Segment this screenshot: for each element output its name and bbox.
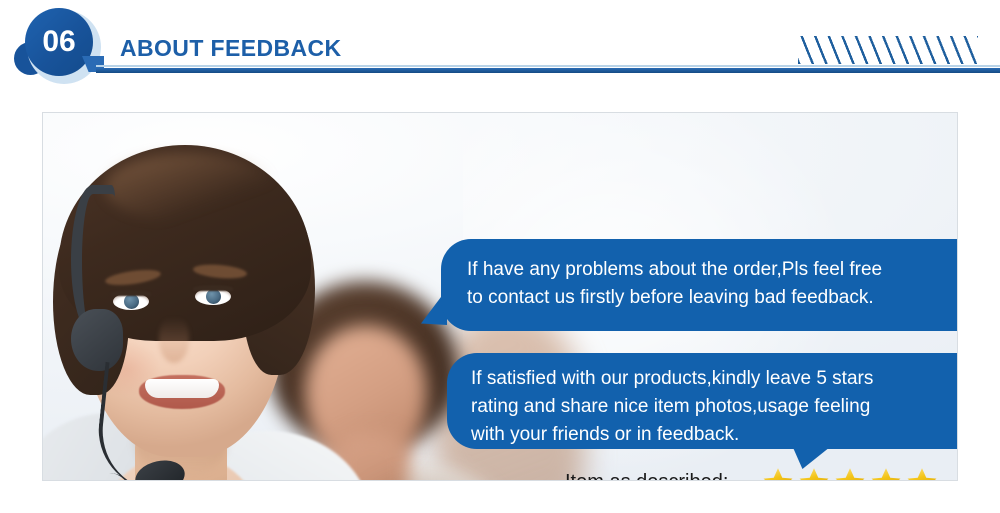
speech-bubble-1: If have any problems about the order,Pls… (441, 239, 958, 331)
speech-bubble-2-text: If satisfied with our products,kindly le… (471, 365, 958, 449)
header-rule (96, 68, 1000, 73)
speech-bubble-1-text: If have any problems about the order,Pls… (467, 256, 958, 312)
speech-bubble-2: If satisfied with our products,kindly le… (447, 353, 958, 449)
agent-nose (159, 317, 189, 363)
agent-iris-right (206, 289, 221, 304)
agent-eyelash-left (111, 290, 151, 296)
rating-list: Item as described:Communication:Shipping… (565, 463, 958, 481)
star-icon (905, 466, 939, 482)
star-icon (797, 466, 831, 482)
page-title: ABOUT FEEDBACK (120, 35, 342, 62)
section-number-badge: 06 (25, 8, 93, 76)
rating-row: Item as described: (565, 463, 958, 481)
star-icon (761, 466, 795, 482)
rating-label: Item as described: (565, 471, 761, 482)
star-icon (869, 466, 903, 482)
agent-eyelash-right (193, 285, 233, 291)
headset-earpiece (71, 309, 123, 371)
star-icon (833, 466, 867, 482)
agent-iris-left (124, 294, 139, 309)
feedback-photo-panel: If have any problems about the order,Pls… (42, 112, 958, 481)
header-rule-thin (96, 65, 1000, 67)
agent-hair-highlight (105, 153, 275, 223)
section-header: 06 ABOUT FEEDBACK (0, 0, 1000, 86)
rating-stars (761, 466, 939, 482)
section-number: 06 (42, 27, 75, 57)
diagonal-stripes-icon (798, 36, 978, 64)
